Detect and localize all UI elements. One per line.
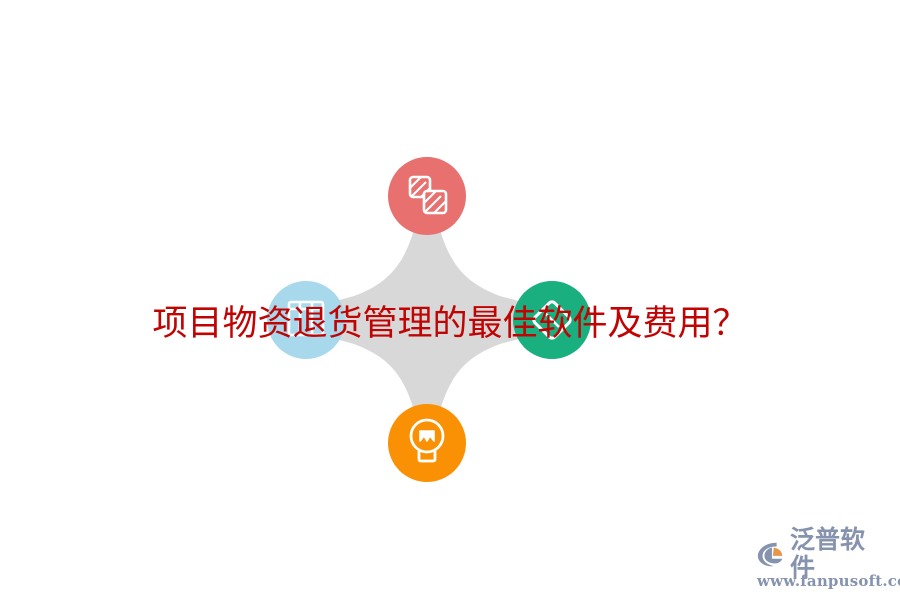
node-top[interactable] (388, 157, 466, 235)
node-left[interactable] (267, 281, 345, 359)
node-right[interactable] (513, 281, 591, 359)
concept-diagram (0, 0, 900, 600)
watermark-logo: 泛普软件 www.fanpusoft.com (756, 532, 888, 590)
node-bottom-circle[interactable] (388, 404, 466, 482)
watermark-url-text: www.fanpusoft.com (757, 572, 900, 590)
watermark-brand-row: 泛普软件 (756, 537, 888, 571)
node-left-circle[interactable] (267, 281, 345, 359)
node-bottom[interactable] (388, 404, 466, 482)
fanpu-logo-icon (756, 539, 786, 569)
screenshot-canvas: 项目物资退货管理的最佳软件及费用？ 泛普软件 www.fanpusoft.com (0, 0, 900, 600)
